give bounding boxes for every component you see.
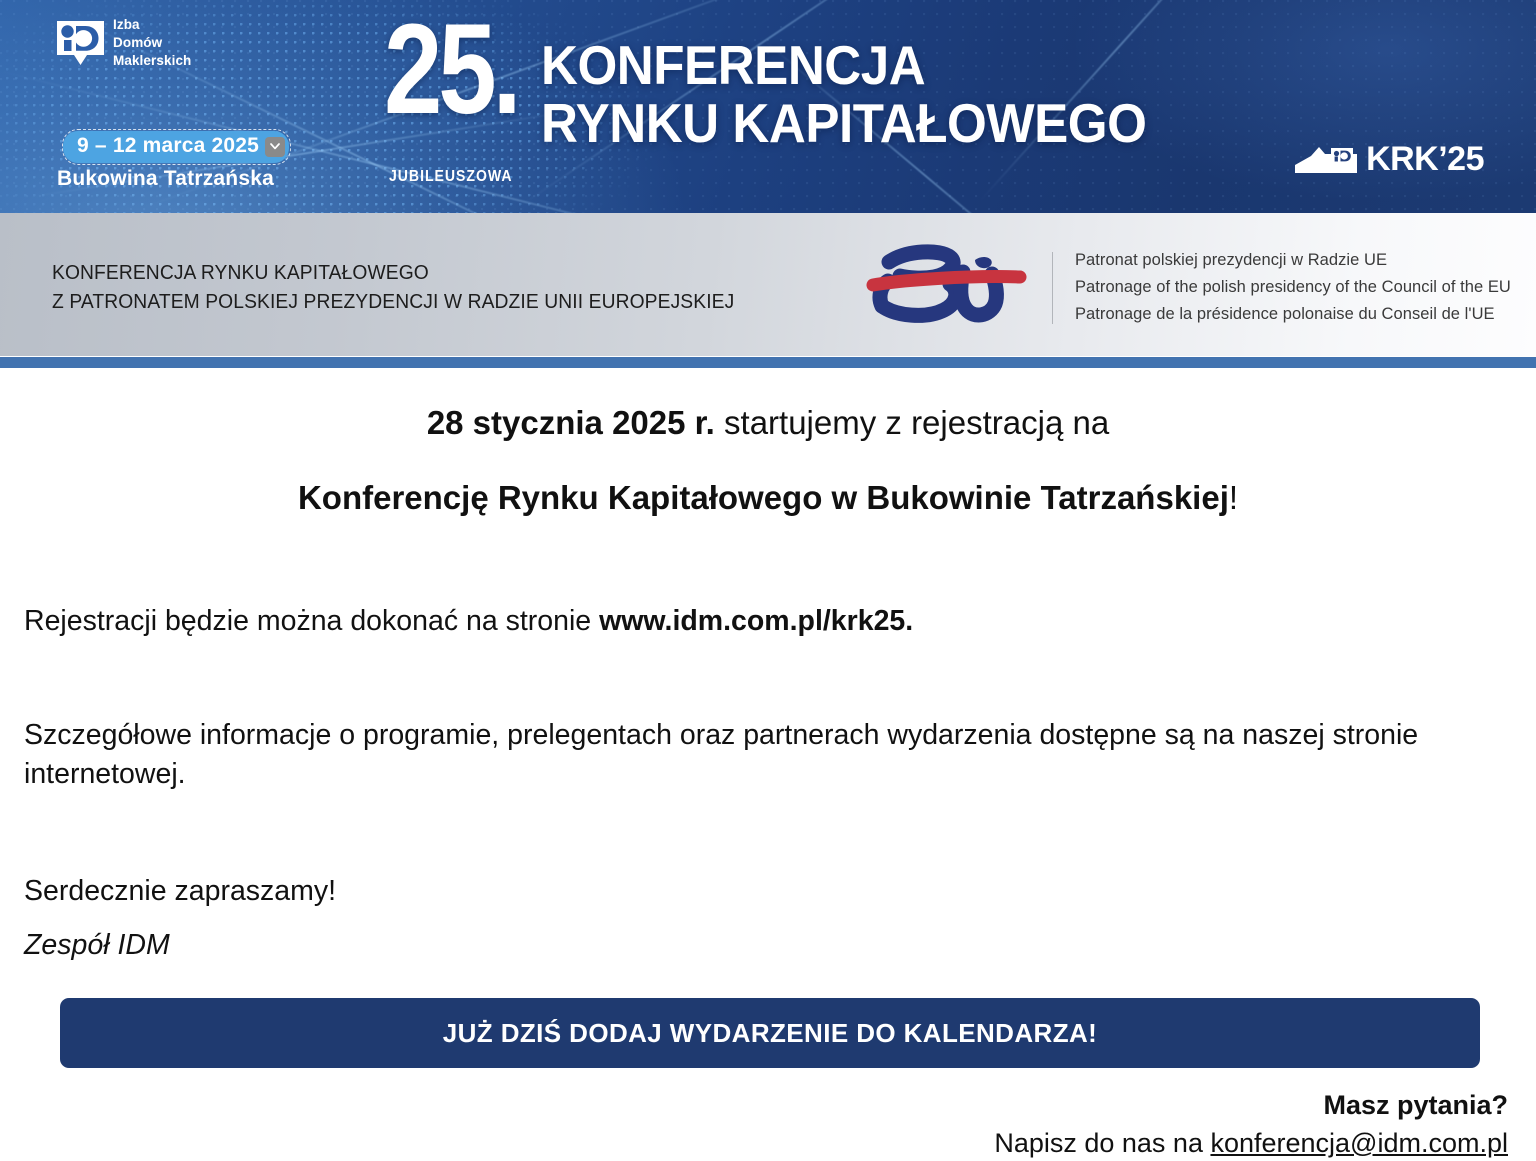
- eu-patronage-fr: Patronage de la présidence polonaise du …: [1075, 301, 1511, 328]
- add-to-calendar-button[interactable]: JUŻ DZIŚ DODAJ WYDARZENIE DO KALENDARZA!: [60, 998, 1480, 1068]
- lead2-rest: !: [1229, 479, 1238, 516]
- registration-url[interactable]: www.idm.com.pl/krk25.: [599, 605, 913, 637]
- contact-email-link[interactable]: konferencja@idm.com.pl: [1210, 1128, 1508, 1158]
- registration-paragraph: Rejestracji będzie można dokonać na stro…: [0, 520, 1536, 641]
- idm-word-line2: Domów: [113, 34, 191, 52]
- conference-title-line2: RYNKU KAPITAŁOWEGO: [541, 94, 1146, 152]
- date-chip[interactable]: 9 – 12 marca 2025: [62, 129, 291, 165]
- details-paragraph: Szczegółowe informacje o programie, prel…: [0, 641, 1536, 794]
- lead-date: 28 stycznia 2025 r.: [427, 404, 715, 441]
- chevron-down-icon[interactable]: [265, 137, 285, 157]
- lead-line-2: Konferencję Rynku Kapitałowego w Bukowin…: [0, 445, 1536, 520]
- message-body: 28 stycznia 2025 r. startujemy z rejestr…: [0, 368, 1536, 1161]
- footer-question: Masz pytania?: [0, 1088, 1508, 1123]
- idm-logo-mark-icon: [57, 21, 104, 65]
- blue-separator-rule: [0, 356, 1536, 368]
- eu-patronage-band: KONFERENCJA RYNKU KAPITAŁOWEGO Z PATRONA…: [0, 213, 1536, 356]
- eu-band-headline-line2: Z PATRONATEM POLSKIEJ PREZYDENCJI W RADZ…: [52, 287, 734, 316]
- krk25-logo: KRK’25: [1295, 142, 1484, 176]
- event-location: Bukowina Tatrzańska: [57, 167, 274, 191]
- eu-patronage-en: Patronage of the polish presidency of th…: [1075, 274, 1511, 301]
- eu-patronage-pl: Patronat polskiej prezydencji w Radzie U…: [1075, 247, 1511, 274]
- lead-line-1: 28 stycznia 2025 r. startujemy z rejestr…: [0, 368, 1536, 445]
- edition-number: 25.: [384, 6, 518, 134]
- edition-label: JUBILEUSZOWA: [389, 168, 512, 186]
- eu-presidency-logo-icon: [862, 240, 1034, 335]
- eu-band-headline: KONFERENCJA RYNKU KAPITAŁOWEGO Z PATRONA…: [52, 258, 734, 316]
- conference-title-line1: KONFERENCJA: [541, 36, 1146, 94]
- idm-logo-wordmark: Izba Domów Maklerskich: [113, 16, 191, 69]
- conference-title: KONFERENCJA RYNKU KAPITAŁOWEGO: [541, 36, 1146, 153]
- eu-presidency-lockup: Patronat polskiej prezydencji w Radzie U…: [862, 240, 1511, 335]
- footer-contact: Masz pytania? Napisz do nas na konferenc…: [0, 1088, 1536, 1161]
- eu-divider: [1052, 252, 1053, 324]
- lead-rest: startujemy z rejestracją na: [715, 404, 1109, 441]
- krk-mountain-idm-mark-icon: [1295, 142, 1357, 176]
- eu-band-headline-line1: KONFERENCJA RYNKU KAPITAŁOWEGO: [52, 258, 734, 287]
- idm-word-line3: Maklerskich: [113, 52, 191, 70]
- registration-prefix: Rejestracji będzie można dokonać na stro…: [24, 605, 599, 637]
- lead2-bold: Konferencję Rynku Kapitałowego w Bukowin…: [298, 479, 1229, 516]
- signature: Zespół IDM: [0, 910, 1536, 965]
- eu-patronage-text: Patronat polskiej prezydencji w Radzie U…: [1075, 247, 1511, 327]
- footer-write-line: Napisz do nas na konferencja@idm.com.pl: [0, 1125, 1508, 1161]
- invitation-paragraph: Serdecznie zapraszamy!: [0, 794, 1536, 911]
- footer-write-prefix: Napisz do nas na: [994, 1128, 1210, 1158]
- idm-word-line1: Izba: [113, 16, 191, 34]
- conference-banner: Izba Domów Maklerskich 25. JUBILEUSZOWA …: [0, 0, 1536, 213]
- date-chip-label: 9 – 12 marca 2025: [63, 131, 289, 163]
- krk25-wordmark: KRK’25: [1366, 142, 1484, 176]
- idm-logo: Izba Domów Maklerskich: [57, 16, 191, 69]
